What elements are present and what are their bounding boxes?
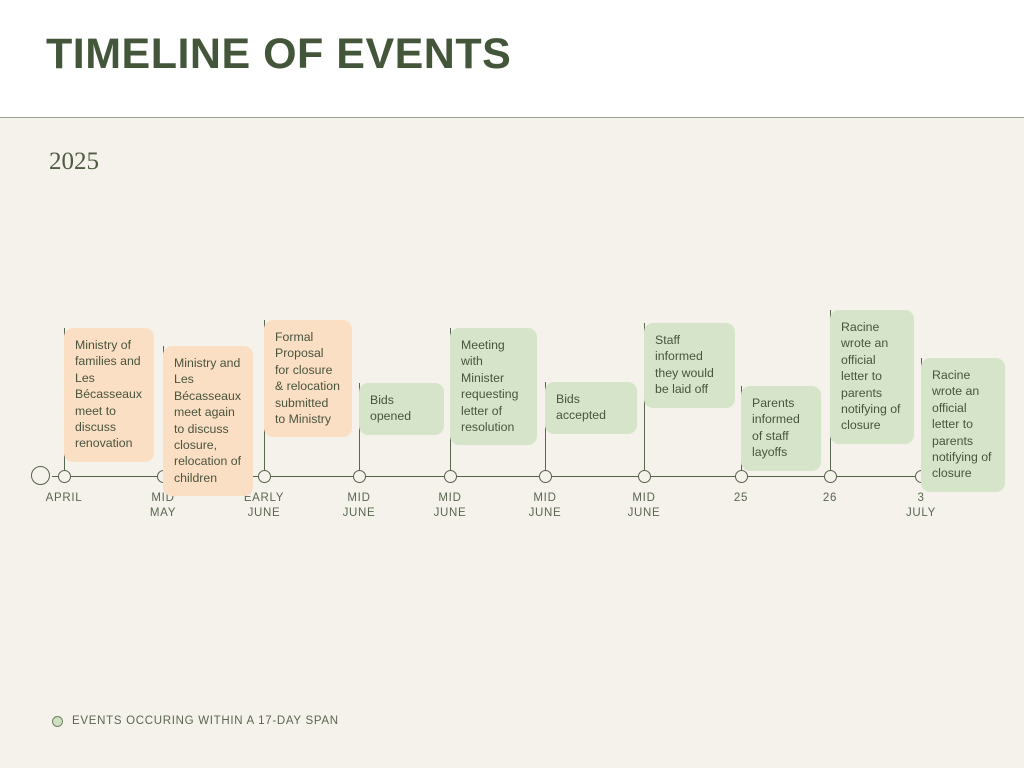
legend-label: EVENTS OCCURING WITHIN A 17-DAY SPAN [72, 714, 339, 728]
axis-tick-label: 3 JULY [861, 491, 981, 520]
axis-tick[interactable] [539, 470, 552, 483]
axis-tick[interactable] [824, 470, 837, 483]
legend: EVENTS OCCURING WITHIN A 17-DAY SPAN [52, 714, 339, 728]
slide-header: TIMELINE OF EVENTS [0, 0, 1024, 118]
axis-tick[interactable] [258, 470, 271, 483]
axis-tick[interactable] [353, 470, 366, 483]
axis-tick[interactable] [638, 470, 651, 483]
event-card[interactable]: Ministry of families and Les Bécasseaux … [64, 328, 154, 462]
event-card[interactable]: Parents informed of staff layoffs [741, 386, 821, 471]
event-card[interactable]: Bids opened [359, 383, 444, 435]
axis-tick[interactable] [444, 470, 457, 483]
circle-marker-icon [52, 716, 63, 727]
event-card[interactable]: Bids accepted [545, 382, 637, 434]
event-card[interactable]: Staff informed they would be laid off [644, 323, 735, 408]
axis-tick[interactable] [58, 470, 71, 483]
event-card[interactable]: Racine wrote an official letter to paren… [830, 310, 914, 444]
event-card[interactable]: Ministry and Les Bécasseaux meet again t… [163, 346, 253, 496]
timeline-canvas: 2025 APRILMID MAYEARLY JUNEMID JUNEMID J… [0, 118, 1024, 768]
event-card[interactable]: Racine wrote an official letter to paren… [921, 358, 1005, 492]
event-card[interactable]: Formal Proposal for closure & relocation… [264, 320, 352, 437]
slide: TIMELINE OF EVENTS 2025 APRILMID MAYEARL… [0, 0, 1024, 768]
axis-start-circle-icon [31, 466, 50, 485]
page-title: TIMELINE OF EVENTS [46, 28, 511, 80]
event-card[interactable]: Meeting with Minister requesting letter … [450, 328, 537, 445]
axis-tick[interactable] [735, 470, 748, 483]
